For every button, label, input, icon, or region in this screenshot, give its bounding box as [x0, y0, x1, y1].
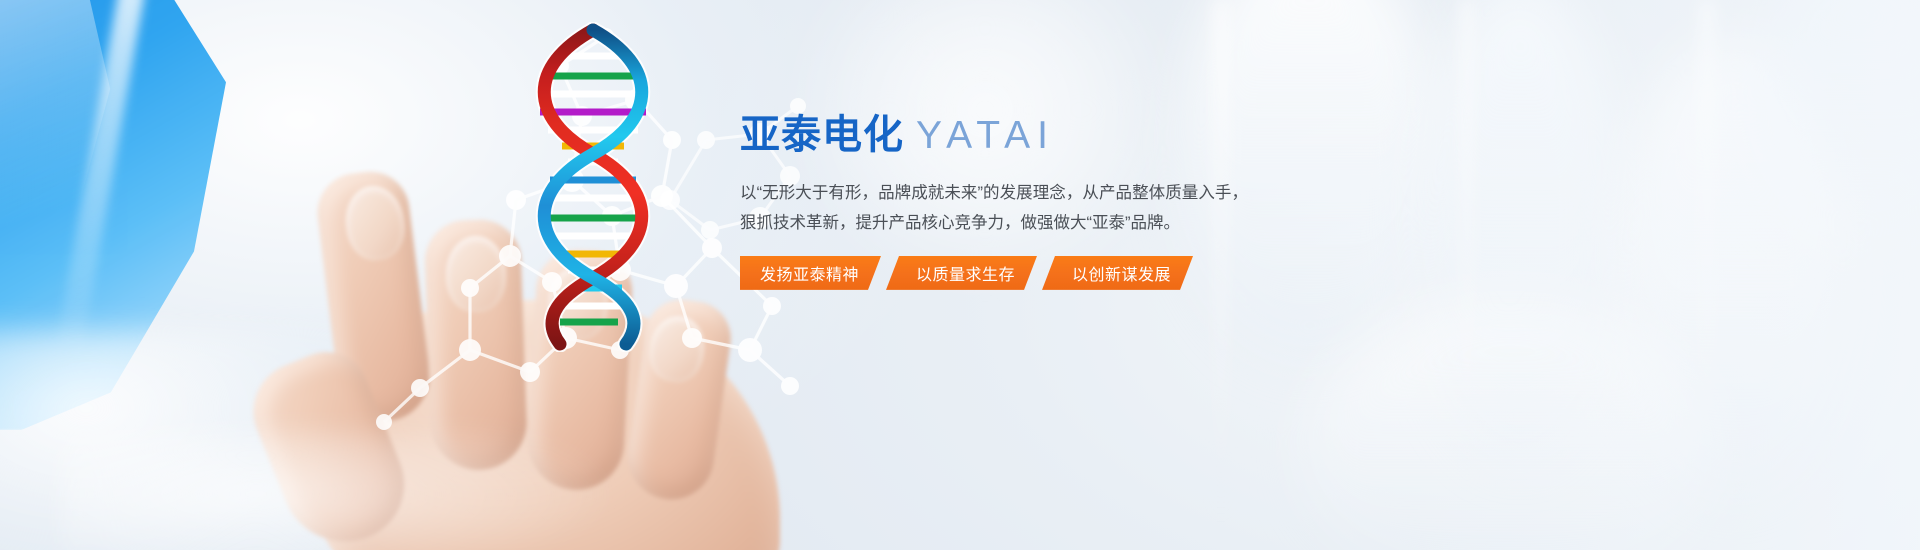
banner-title-chinese: 亚泰电化: [740, 113, 904, 157]
bottom-glow: [60, 430, 620, 550]
slogan-tag[interactable]: 以质量求生存: [886, 256, 1037, 290]
slogan-tag-list: 发扬亚泰精神 以质量求生存 以创新谋发展: [740, 256, 1260, 290]
banner-title: 亚泰电化YATAI: [740, 112, 1260, 159]
right-veil: [1400, 0, 1920, 550]
slogan-tag[interactable]: 发扬亚泰精神: [740, 256, 881, 290]
slogan-tag-label: 以质量求生存: [916, 261, 1015, 285]
dna-helix-icon: [498, 22, 688, 352]
banner-text-block: 亚泰电化YATAI 以“无形大于有形，品牌成就未来”的发展理念，从产品整体质量入…: [740, 112, 1260, 290]
banner-title-english: YATAI: [916, 114, 1055, 157]
banner-description: 以“无形大于有形，品牌成就未来”的发展理念，从产品整体质量入手，狠抓技术革新，提…: [740, 179, 1248, 238]
slogan-tag[interactable]: 以创新谋发展: [1042, 256, 1193, 290]
slogan-tag-label: 以创新谋发展: [1072, 261, 1171, 285]
hero-banner: 亚泰电化YATAI 以“无形大于有形，品牌成就未来”的发展理念，从产品整体质量入…: [0, 0, 1920, 550]
slogan-tag-label: 发扬亚泰精神: [760, 261, 859, 285]
